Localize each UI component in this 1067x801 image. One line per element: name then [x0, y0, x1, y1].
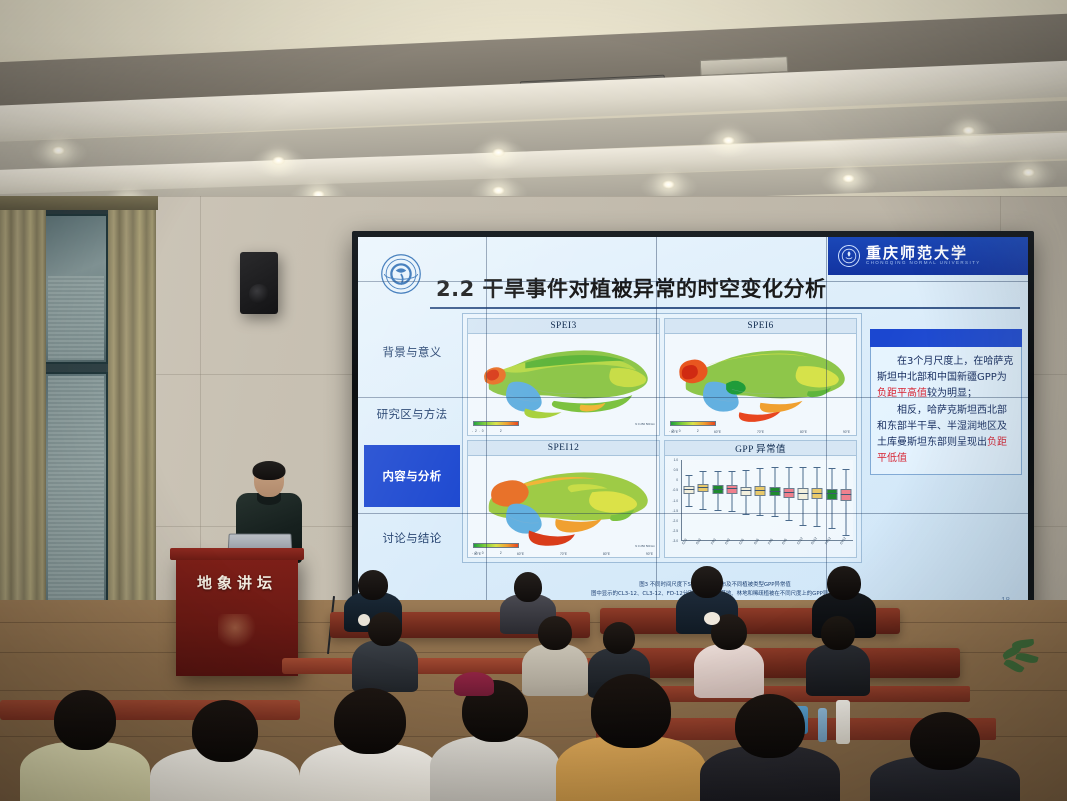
boxplot-median [755, 490, 766, 491]
audience-member-front [700, 694, 840, 801]
boxplot-box [753, 460, 767, 540]
boxplot-whisker-cap [828, 528, 835, 529]
person-head [54, 690, 116, 750]
boxplot-box-rect [684, 486, 695, 494]
boxplot-box-rect [769, 487, 780, 497]
university-emblem-icon [838, 245, 860, 267]
boxplot-whisker-cap [686, 475, 693, 476]
led-screen[interactable]: 重庆师范大学 CHONGQING NORMAL UNIVERSITY 2.2 干… [358, 237, 1028, 615]
slide-nav: 背景与意义 研究区与方法 内容与分析 讨论与结论 [364, 321, 460, 569]
boxplot-whisker-cap [757, 468, 764, 469]
boxplot-x-labels: CL3GL3FR3SV3CL6GL6FR6SV6CL12GL12FR12SV12 [681, 541, 853, 557]
window-pane [44, 372, 108, 622]
boxplot-median [741, 490, 752, 491]
downlight [962, 126, 975, 135]
boxplot-box [725, 460, 739, 540]
downlight [52, 146, 65, 155]
podium-nameplate: 地象讲坛 [176, 572, 298, 593]
person-head [821, 616, 855, 650]
map-spei6: -2.0 2 50°E60°E70°E80°E90°E [665, 334, 856, 435]
university-name-en: CHONGQING NORMAL UNIVERSITY [866, 261, 981, 266]
boxplot-box [810, 460, 824, 540]
figure-area: SPEI3 [462, 313, 862, 563]
boxplot-whisker-cap [728, 471, 735, 472]
person-head [827, 566, 861, 600]
boxplot-box-rect [698, 484, 709, 492]
panel-spei12: SPEI12 [467, 440, 660, 558]
boxplot-whisker-cap [814, 526, 821, 527]
boxplot-whisker [845, 470, 846, 536]
window-pane [44, 214, 108, 364]
boxplot-median [769, 491, 780, 492]
boxplot-box-rect [755, 486, 766, 495]
university-name-cn: 重庆师范大学 [866, 246, 981, 261]
audience-member [352, 612, 418, 684]
boxplot-median [684, 489, 695, 490]
panel-title-spei6: SPEI6 [665, 319, 856, 334]
boxplot-whisker-cap [743, 514, 750, 515]
panel-gpp-anomaly: GPP 异常值 1.00.50-0.5-1.0-1.5-2.0-2.5-3.0 … [664, 440, 857, 558]
person-head [603, 622, 635, 654]
university-banner: 重庆师范大学 CHONGQING NORMAL UNIVERSITY [828, 237, 1028, 275]
person-body [430, 736, 560, 801]
nav-item-conclusion[interactable]: 讨论与结论 [364, 507, 460, 569]
map-colorbar-spei6 [670, 421, 716, 426]
boxplot-whisker-cap [700, 471, 707, 472]
led-panel-seam [826, 237, 827, 615]
side-text-panel: 在3个月尺度上，在哈萨克斯坦中北部和中国新疆GPP为负距平高值较为明显； 相反，… [870, 329, 1022, 475]
led-panel-seam [358, 281, 1028, 282]
downlight [492, 148, 505, 157]
person-head [358, 570, 388, 600]
boxplot-box-rect [798, 488, 809, 499]
audience-member [806, 616, 870, 690]
boxplot-whisker-cap [800, 467, 807, 468]
panel-title-gpp: GPP 异常值 [665, 441, 856, 456]
led-panel-seam [358, 513, 1028, 514]
led-panel-seam [358, 397, 1028, 398]
boxplot-whisker-cap [728, 511, 735, 512]
boxplot-whisker-cap [743, 470, 750, 471]
boxplot-y-axis: 1.00.50-0.5-1.0-1.5-2.0-2.5-3.0 [665, 460, 680, 541]
wall-speaker [240, 252, 278, 314]
boxplot-median [826, 493, 837, 494]
map-axis-labels-spei12: 50°E60°E70°E80°E90°E [474, 552, 653, 556]
institute-logo-icon [380, 253, 422, 295]
hair-clip [358, 614, 370, 626]
boxplot-whisker-cap [785, 467, 792, 468]
person-body [806, 644, 870, 696]
boxplot-whisker-cap [714, 510, 721, 511]
audience-member-front [300, 688, 440, 801]
boxplot-median [726, 488, 737, 489]
boxplot-whisker-cap [842, 469, 849, 470]
boxplot-columns [682, 460, 853, 540]
hair-clip [704, 612, 720, 625]
speaker-cone-icon [249, 284, 269, 304]
boxplot-median [840, 494, 851, 495]
boxplot-box-rect [741, 487, 752, 496]
boxplot-whisker-cap [771, 467, 778, 468]
potted-plant [1000, 640, 1042, 684]
person-head [591, 674, 671, 748]
downlight [1022, 168, 1035, 177]
audience-member-front [20, 690, 150, 801]
boxplot-whisker-cap [757, 515, 764, 516]
side-panel-body: 在3个月尺度上，在哈萨克斯坦中北部和中国新疆GPP为负距平高值较为明显； 相反，… [870, 347, 1022, 475]
boxplot-whisker-cap [686, 506, 693, 507]
map-spei12: -2.0 2 N 0 250 500 km 50°E60°E70°E80°E90… [468, 456, 659, 557]
boxplot-median [812, 493, 823, 494]
boxplot-whisker-cap [771, 516, 778, 517]
podium: 地象讲坛 [176, 556, 298, 676]
side-panel-paragraph-1: 在3个月尺度上，在哈萨克斯坦中北部和中国新疆GPP为负距平高值较为明显； [877, 354, 1015, 403]
boxplot-box [768, 460, 782, 540]
person-head [735, 694, 805, 758]
boxplot-whisker-cap [800, 525, 807, 526]
person-head [691, 566, 723, 598]
boxplot-median [712, 489, 723, 490]
nav-item-methods[interactable]: 研究区与方法 [364, 383, 460, 445]
map-spei3: -2.0 2 N 0 250 500 km [468, 334, 659, 435]
boxplot-box [796, 460, 810, 540]
panel-title-spei12: SPEI12 [468, 441, 659, 456]
nav-item-analysis[interactable]: 内容与分析 [364, 445, 460, 507]
curtain-left[interactable] [0, 196, 46, 616]
boxplot-y-tick: -2.0 [673, 519, 679, 523]
boxplot-box [682, 460, 696, 540]
boxplot-y-tick: -3.0 [673, 539, 679, 543]
person-head [192, 700, 258, 762]
curtain-right[interactable] [108, 196, 156, 620]
presentation-slide: 重庆师范大学 CHONGQING NORMAL UNIVERSITY 2.2 干… [358, 237, 1028, 615]
boxplot-y-tick: 0.5 [674, 468, 678, 472]
audience-member-front [430, 680, 560, 801]
map-scale-note-spei12: N 0 250 500 km [635, 545, 655, 549]
panel-spei3: SPEI3 [467, 318, 660, 436]
boxplot-box-rect [783, 488, 794, 498]
panel-title-spei3: SPEI3 [468, 319, 659, 334]
person-head [368, 612, 402, 646]
person-head [514, 572, 542, 602]
window-blind [48, 376, 104, 618]
window-blind [48, 276, 104, 360]
boxplot-y-tick: -1.0 [673, 499, 679, 503]
downlight [492, 186, 505, 195]
downlight [272, 156, 285, 165]
lecture-hall-scene: 重庆师范大学 CHONGQING NORMAL UNIVERSITY 2.2 干… [0, 0, 1067, 801]
plant-leaf [1012, 639, 1035, 649]
podium-top [170, 548, 304, 560]
side-panel-header [870, 329, 1022, 347]
boxplot-whisker-cap [785, 520, 792, 521]
boxplot-y-tick: -0.5 [673, 488, 679, 492]
boxplot-median [798, 493, 809, 494]
map-scale-note-spei3: N 0 250 500 km [635, 423, 655, 427]
audience-member-front [150, 700, 300, 801]
boxplot-box [782, 460, 796, 540]
colorbar-ticks-spei3: -2.0 2 [472, 429, 504, 433]
boxplot-gpp: 1.00.50-0.5-1.0-1.5-2.0-2.5-3.0 CL3GL3FR… [665, 456, 856, 557]
led-video-wall[interactable]: 重庆师范大学 CHONGQING NORMAL UNIVERSITY 2.2 干… [352, 231, 1034, 621]
boxplot-median [698, 487, 709, 488]
boxplot-y-tick: 1.0 [674, 458, 678, 462]
downlight [722, 136, 735, 145]
boxplot-box-rect [826, 489, 837, 500]
boxplot-box [711, 460, 725, 540]
side-panel-paragraph-2: 相反，哈萨克斯坦西北部和东部半干旱、半湿润地区及土库曼斯坦东部则呈现出负距平低值 [877, 403, 1015, 468]
audience-member-front [870, 712, 1020, 801]
boxplot-box [696, 460, 710, 540]
boxplot-whisker-cap [828, 468, 835, 469]
person-head [334, 688, 406, 754]
person-body [352, 640, 418, 692]
boxplot-plot-area [681, 460, 853, 541]
person-head [910, 712, 980, 770]
map-colorbar-spei3 [473, 421, 519, 426]
boxplot-box [739, 460, 753, 540]
slide-title: 2.2 干旱事件对植被异常的时空变化分析 [436, 273, 827, 303]
panel-spei6: SPEI6 [664, 318, 857, 436]
led-panel-seam [656, 237, 657, 615]
sp1-text-a: 在3个月尺度上，在哈萨克斯坦中北部和中国新疆GPP为 [877, 356, 1013, 383]
knit-hat [454, 672, 494, 696]
audience-member-front [556, 674, 706, 801]
presenter-hair [253, 461, 286, 480]
map-colorbar-spei12 [473, 543, 519, 548]
boxplot-box [839, 460, 853, 540]
boxplot-median [783, 492, 794, 493]
downlight [842, 174, 855, 183]
boxplot-whisker-cap [814, 467, 821, 468]
led-panel-seam [486, 237, 487, 615]
boxplot-whisker-cap [700, 509, 707, 510]
boxplot-whisker-cap [714, 471, 721, 472]
person-body [20, 742, 150, 801]
plant-leaf [1015, 651, 1038, 665]
downlight [662, 180, 675, 189]
map-axis-labels-spei6: 50°E60°E70°E80°E90°E [671, 430, 850, 434]
title-divider [430, 307, 1020, 309]
wall-seam [0, 196, 1067, 197]
nav-item-background[interactable]: 背景与意义 [364, 321, 460, 383]
person-head [538, 616, 572, 650]
boxplot-y-tick: 0 [676, 478, 678, 482]
podium-emblem-icon [218, 614, 256, 648]
boxplot-box-rect [726, 485, 737, 494]
boxplot-y-tick: -2.5 [673, 529, 679, 533]
curtain-rail [0, 196, 158, 210]
